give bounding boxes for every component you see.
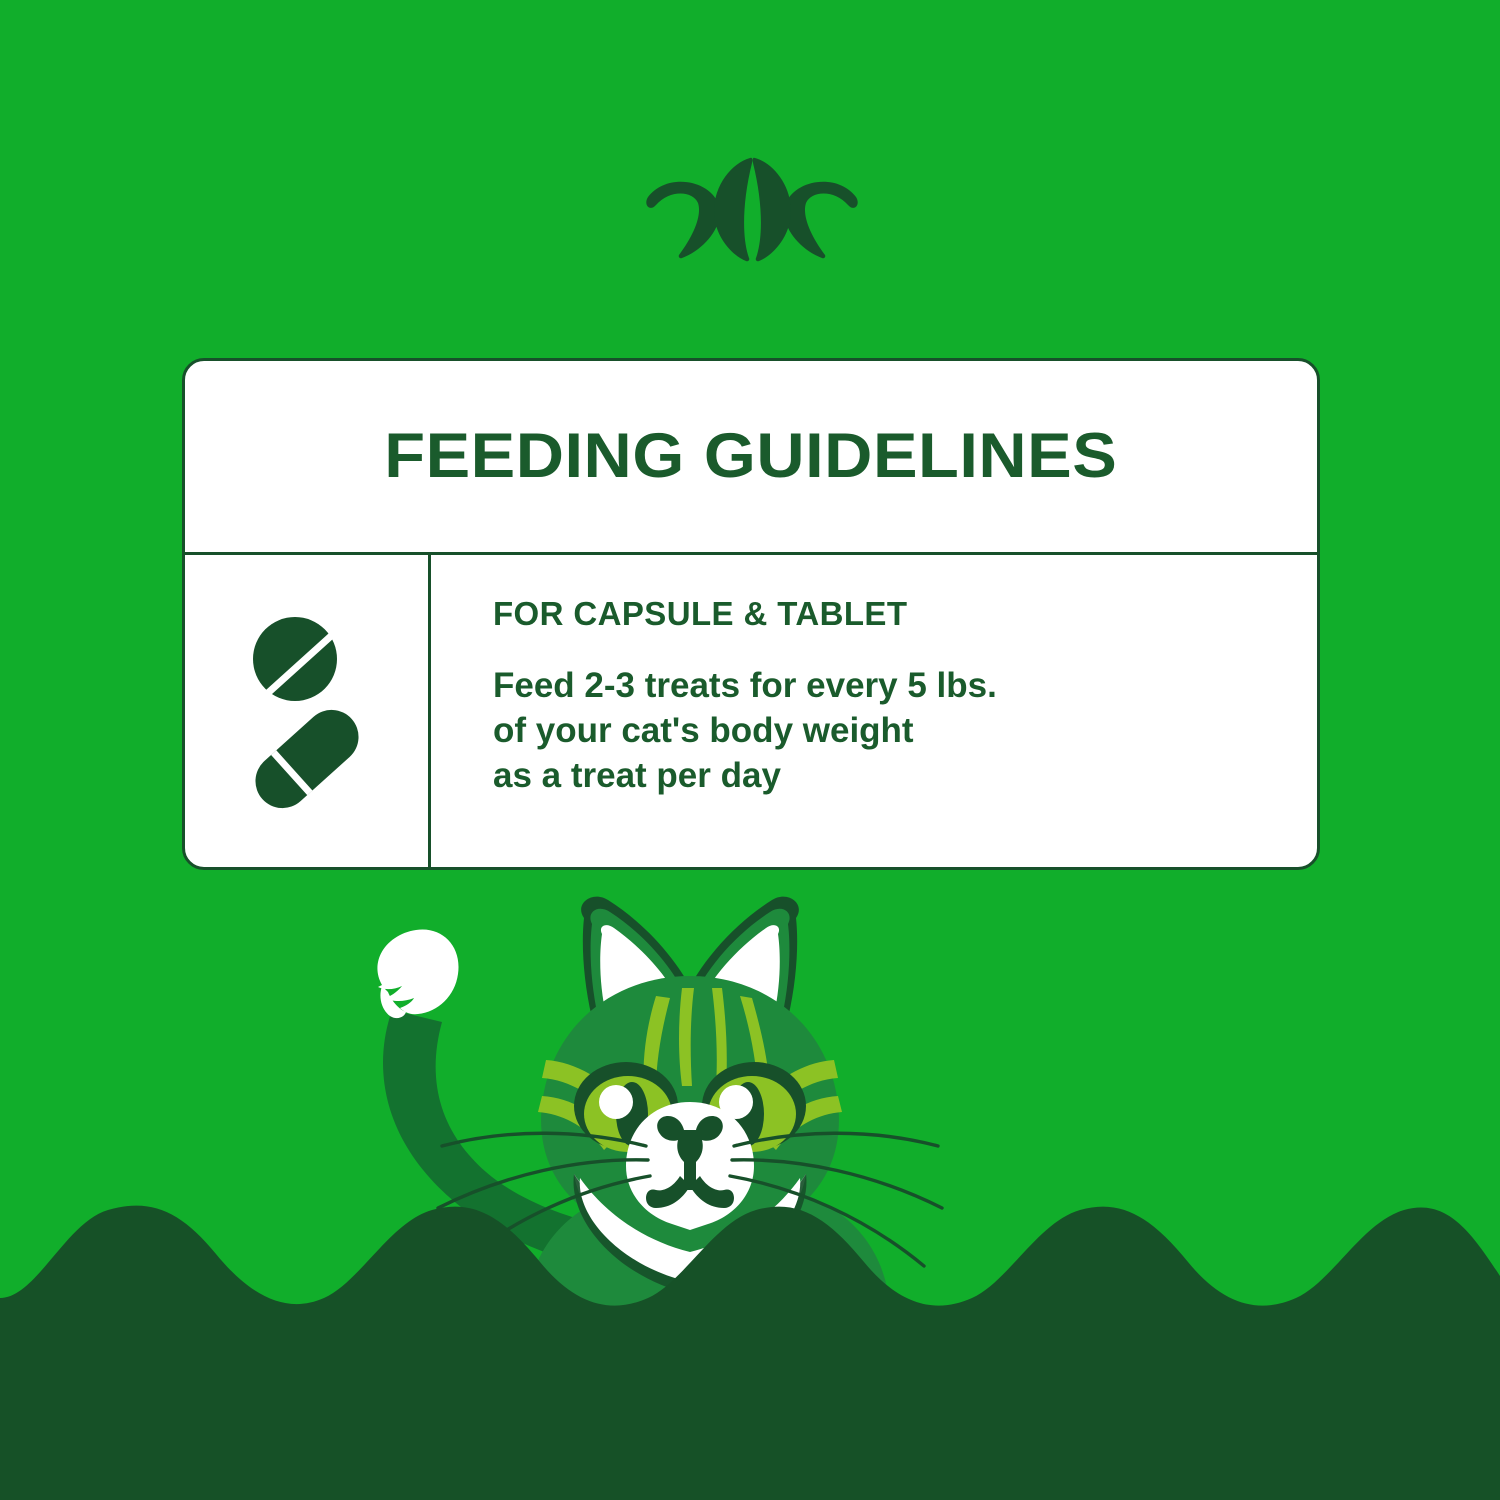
leaf-left (646, 182, 719, 259)
tablet-icon (253, 617, 337, 701)
instruction-line-1: Feed 2-3 treats for every 5 lbs. (493, 664, 1317, 709)
tablet-and-capsule-icon (247, 614, 367, 814)
feeding-guidelines-panel: FEEDING GUIDELINES FOR (0, 0, 1500, 1500)
instruction-line-3: as a treat per day (493, 754, 1317, 799)
leaf-right (784, 182, 857, 259)
leaf-center-left (714, 158, 752, 262)
capsule-icon (247, 699, 367, 814)
page-title: FEEDING GUIDELINES (384, 425, 1117, 488)
icon-cell (185, 555, 431, 867)
card-body: FOR CAPSULE & TABLET Feed 2-3 treats for… (185, 555, 1317, 867)
three-leaf-logo (636, 155, 868, 265)
feeding-guidelines-card: FEEDING GUIDELINES FOR (182, 358, 1320, 870)
ground-wave-path (0, 1206, 1500, 1500)
instruction-cell: FOR CAPSULE & TABLET Feed 2-3 treats for… (431, 555, 1317, 867)
leaf-center-right (753, 158, 791, 262)
card-header: FEEDING GUIDELINES (185, 361, 1317, 555)
instruction-line-2: of your cat's body weight (493, 709, 1317, 754)
wavy-ground-band (0, 1180, 1500, 1500)
instruction-heading: FOR CAPSULE & TABLET (493, 597, 1317, 630)
